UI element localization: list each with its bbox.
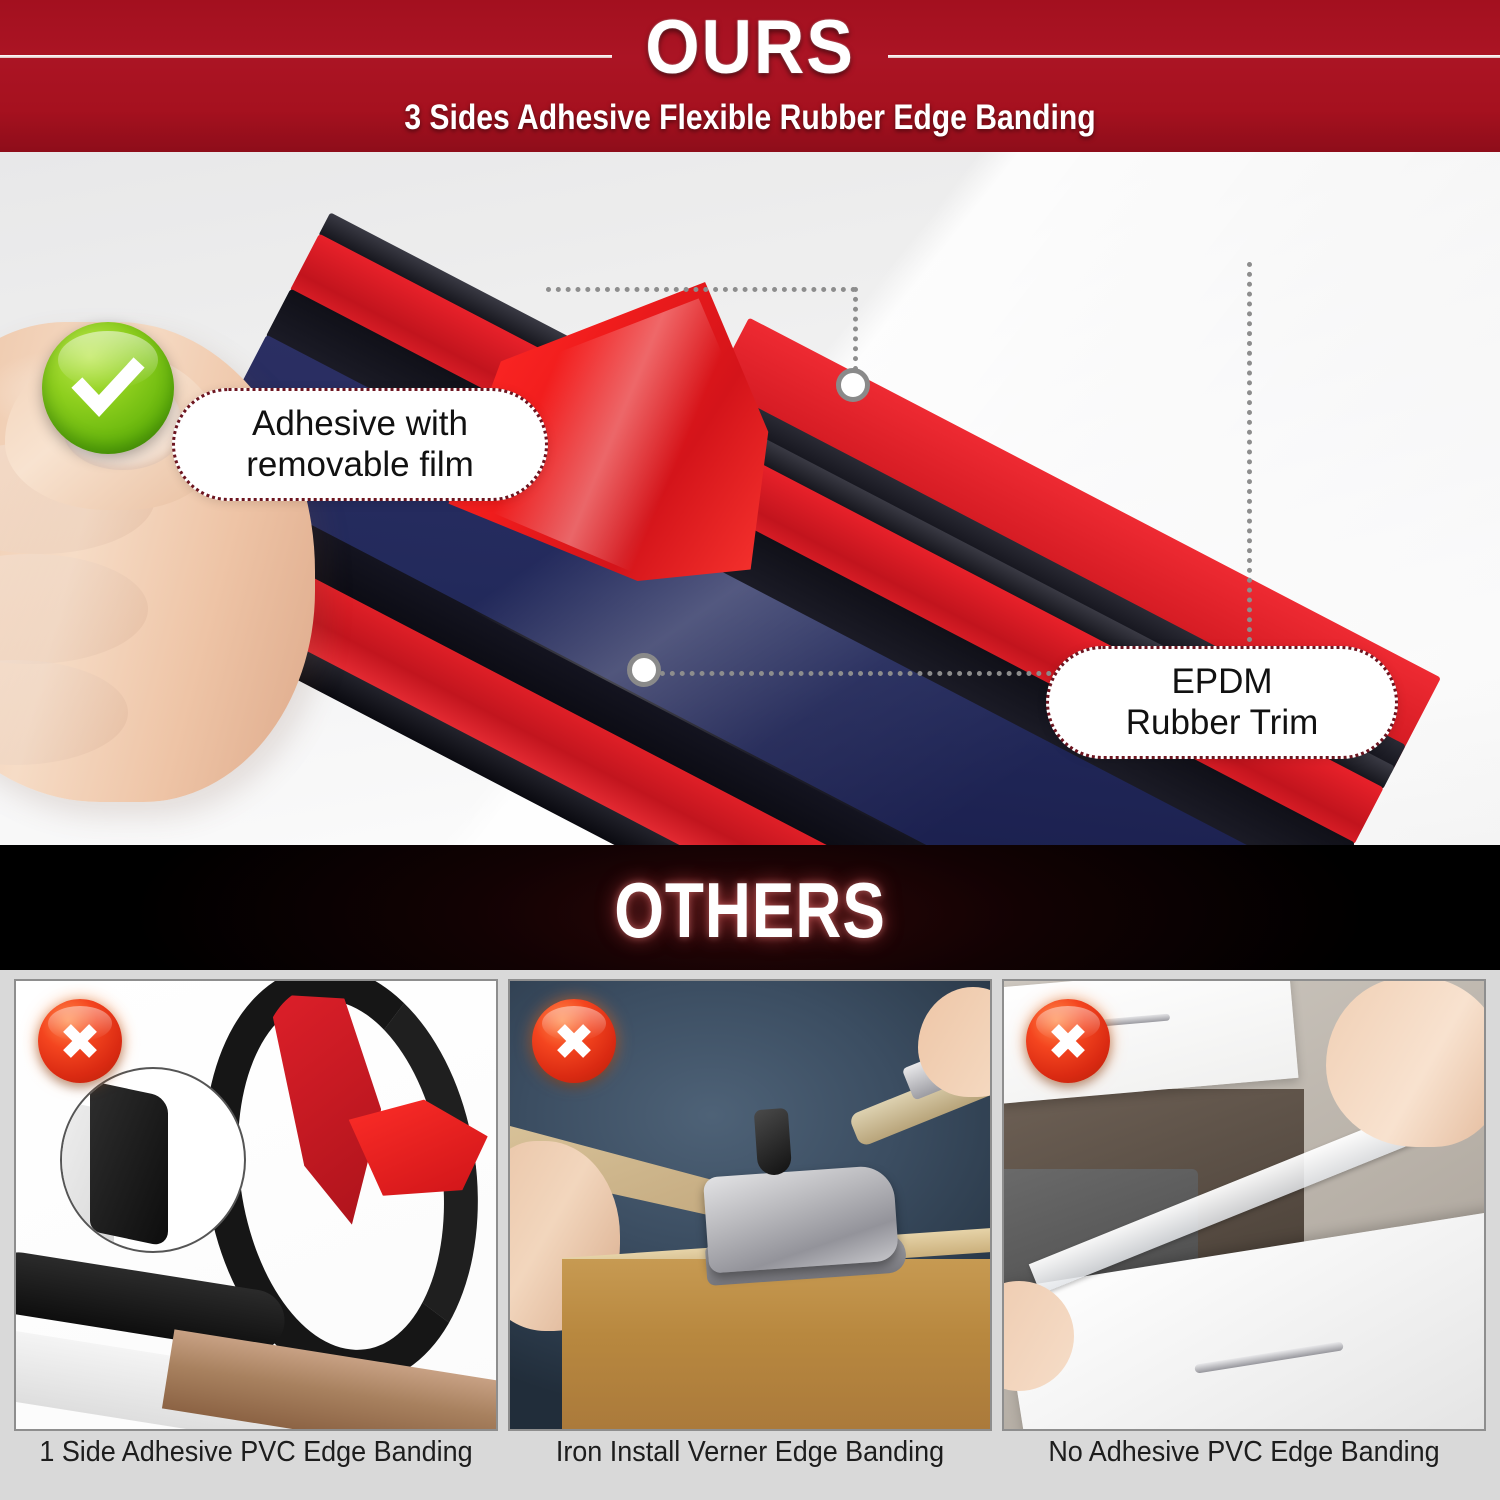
x-icon [38, 999, 122, 1083]
other-panel-2-caption: Iron Install Verner Edge Banding [525, 1436, 975, 1469]
others-banner: OTHERS [0, 845, 1500, 970]
others-panels: 1 Side Adhesive PVC Edge Banding Iron In… [0, 970, 1500, 1500]
inset-banding-profile [90, 1081, 168, 1248]
other-panel-3 [1002, 979, 1486, 1431]
badge-gloss [542, 1006, 606, 1041]
leader-adhesive-horizontal [546, 287, 856, 292]
other-panel-3-caption: No Adhesive PVC Edge Banding [1019, 1436, 1469, 1469]
other-panel-2 [508, 979, 992, 1431]
edge-banding-iron [703, 1164, 899, 1273]
ours-hero-image: Adhesive with removable film EPDM Rubber… [0, 152, 1500, 845]
finger-3 [0, 660, 128, 765]
badge-gloss [48, 1006, 112, 1041]
x-icon [1026, 999, 1110, 1083]
ours-subtitle: 3 Sides Adhesive Flexible Rubber Edge Ba… [105, 98, 1395, 138]
other-panel-1-caption: 1 Side Adhesive PVC Edge Banding [31, 1436, 481, 1469]
callout-epdm-rubber-trim: EPDM Rubber Trim [1046, 646, 1398, 759]
x-icon [532, 999, 616, 1083]
other-panel-1 [14, 979, 498, 1431]
badge-gloss [1036, 1006, 1100, 1041]
callout-adhesive-with-removable-film: Adhesive with removable film [172, 388, 548, 501]
leader-epdm-vertical [1247, 262, 1252, 672]
iron-knob [754, 1108, 793, 1176]
plywood-panel [562, 1259, 992, 1431]
marker-adhesive [836, 368, 870, 402]
ours-title: OURS [60, 4, 1440, 91]
ours-banner: OURS 3 Sides Adhesive Flexible Rubber Ed… [0, 0, 1500, 152]
marker-epdm [627, 653, 661, 687]
finger-2 [0, 554, 148, 664]
others-title: OTHERS [135, 865, 1365, 956]
check-icon [42, 322, 174, 454]
detail-inset-circle [60, 1067, 246, 1253]
badge-gloss [58, 331, 158, 389]
hand-holding-strip-right [1326, 979, 1486, 1147]
leader-adhesive-vertical [853, 287, 858, 381]
